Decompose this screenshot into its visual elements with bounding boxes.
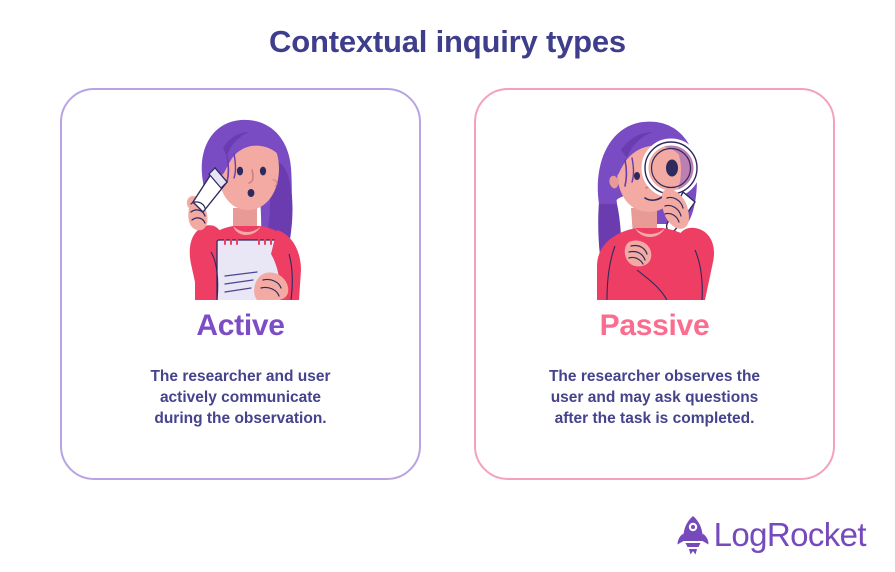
card-passive: Passive The researcher observes the user… [474, 88, 835, 480]
cards-container: Active The researcher and user actively … [60, 88, 835, 480]
logrocket-logo[interactable]: LogRocket [676, 515, 866, 555]
woman-with-magnifying-glass-illustration [555, 104, 755, 300]
logrocket-wordmark: LogRocket [714, 517, 866, 553]
woman-with-pen-and-clipboard-illustration [141, 104, 341, 300]
card-body-passive: The researcher observes the user and may… [505, 366, 805, 429]
card-body-active: The researcher and user actively communi… [91, 366, 391, 429]
page-title: Contextual inquiry types [0, 21, 895, 63]
card-active: Active The researcher and user actively … [60, 88, 421, 480]
card-heading-passive: Passive [600, 308, 710, 344]
infographic-root: Contextual inquiry types [0, 0, 895, 572]
rocket-icon [676, 515, 710, 555]
card-heading-active: Active [196, 308, 284, 344]
